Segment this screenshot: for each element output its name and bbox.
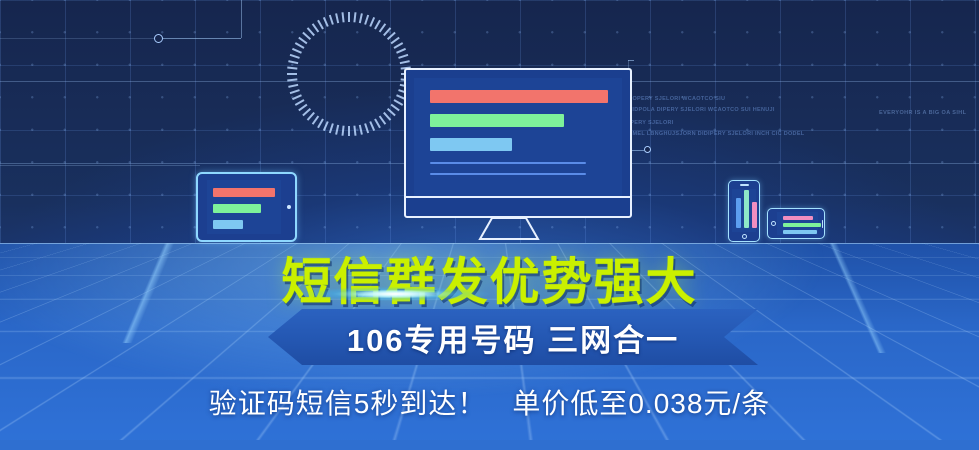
monitor-bar-2 bbox=[430, 114, 564, 127]
phone-land-bar-1 bbox=[783, 216, 813, 220]
phone-landscape-screen bbox=[777, 212, 818, 235]
tablet-bar-2 bbox=[213, 204, 261, 213]
circuit-wire bbox=[628, 60, 634, 61]
desktop-monitor bbox=[404, 68, 632, 218]
phone-portrait-device bbox=[728, 180, 760, 242]
tablet-bar-1 bbox=[213, 188, 275, 197]
phone-speaker-icon bbox=[740, 184, 749, 186]
tablet-home-button-icon bbox=[287, 205, 291, 209]
phone-speaker-icon bbox=[822, 220, 824, 228]
monitor-line-2 bbox=[430, 173, 586, 175]
circuit-wire bbox=[241, 0, 242, 38]
circuit-wire bbox=[163, 38, 241, 39]
circuit-node-icon bbox=[154, 34, 163, 43]
phone-portrait-screen bbox=[732, 189, 756, 232]
monitor-screen bbox=[414, 78, 622, 196]
promo-banner: ANI BOPERY SJELORI WCAOTCO SIU BANILIKID… bbox=[0, 0, 979, 450]
circuit-node-icon bbox=[644, 146, 651, 153]
circuit-wire bbox=[0, 38, 154, 39]
ribbon-label: 106专用号码 三网合一 bbox=[268, 309, 758, 365]
bottom-accent-bar bbox=[0, 440, 979, 450]
monitor-bar-3 bbox=[430, 138, 512, 151]
subline-left: 验证码短信5秒到达！ bbox=[209, 388, 487, 419]
decor-text-line: BNG TAMEL LBNGHUJSJORN DIDIPERY SJELORI … bbox=[610, 130, 804, 139]
radial-tick-dial-icon bbox=[283, 8, 415, 140]
decor-text-line: ANI BOPERY SJELORI WCAOTCO SIU bbox=[616, 95, 725, 104]
subline: 验证码短信5秒到达！单价低至0.038元/条 bbox=[0, 382, 979, 422]
page-title: 短信群发优势强大 bbox=[0, 242, 979, 314]
decor-text-line: BANILIKIDPOLA DIPERY SJELORI WCAOTCO SUI… bbox=[608, 106, 775, 115]
phone-home-button-icon bbox=[742, 234, 747, 239]
subline-right: 单价低至0.038元/条 bbox=[512, 388, 770, 419]
monitor-stand bbox=[478, 218, 540, 240]
circuit-wire bbox=[0, 165, 200, 166]
decor-text-right: EVERYOHR IS A BIG OA SIHL bbox=[879, 110, 966, 116]
tablet-screen bbox=[207, 180, 281, 234]
monitor-bar-1 bbox=[430, 90, 608, 103]
monitor-line-1 bbox=[430, 162, 586, 164]
phone-land-bar-3 bbox=[783, 230, 817, 234]
phone-vbar-3 bbox=[752, 202, 757, 228]
phone-landscape-device bbox=[767, 208, 825, 239]
phone-vbar-2 bbox=[744, 190, 749, 228]
tablet-device bbox=[196, 172, 297, 242]
phone-vbar-1 bbox=[736, 198, 741, 228]
tablet-bar-3 bbox=[213, 220, 243, 229]
monitor-base-strip bbox=[406, 196, 630, 216]
phone-land-bar-2 bbox=[783, 223, 821, 227]
phone-home-button-icon bbox=[771, 221, 776, 226]
